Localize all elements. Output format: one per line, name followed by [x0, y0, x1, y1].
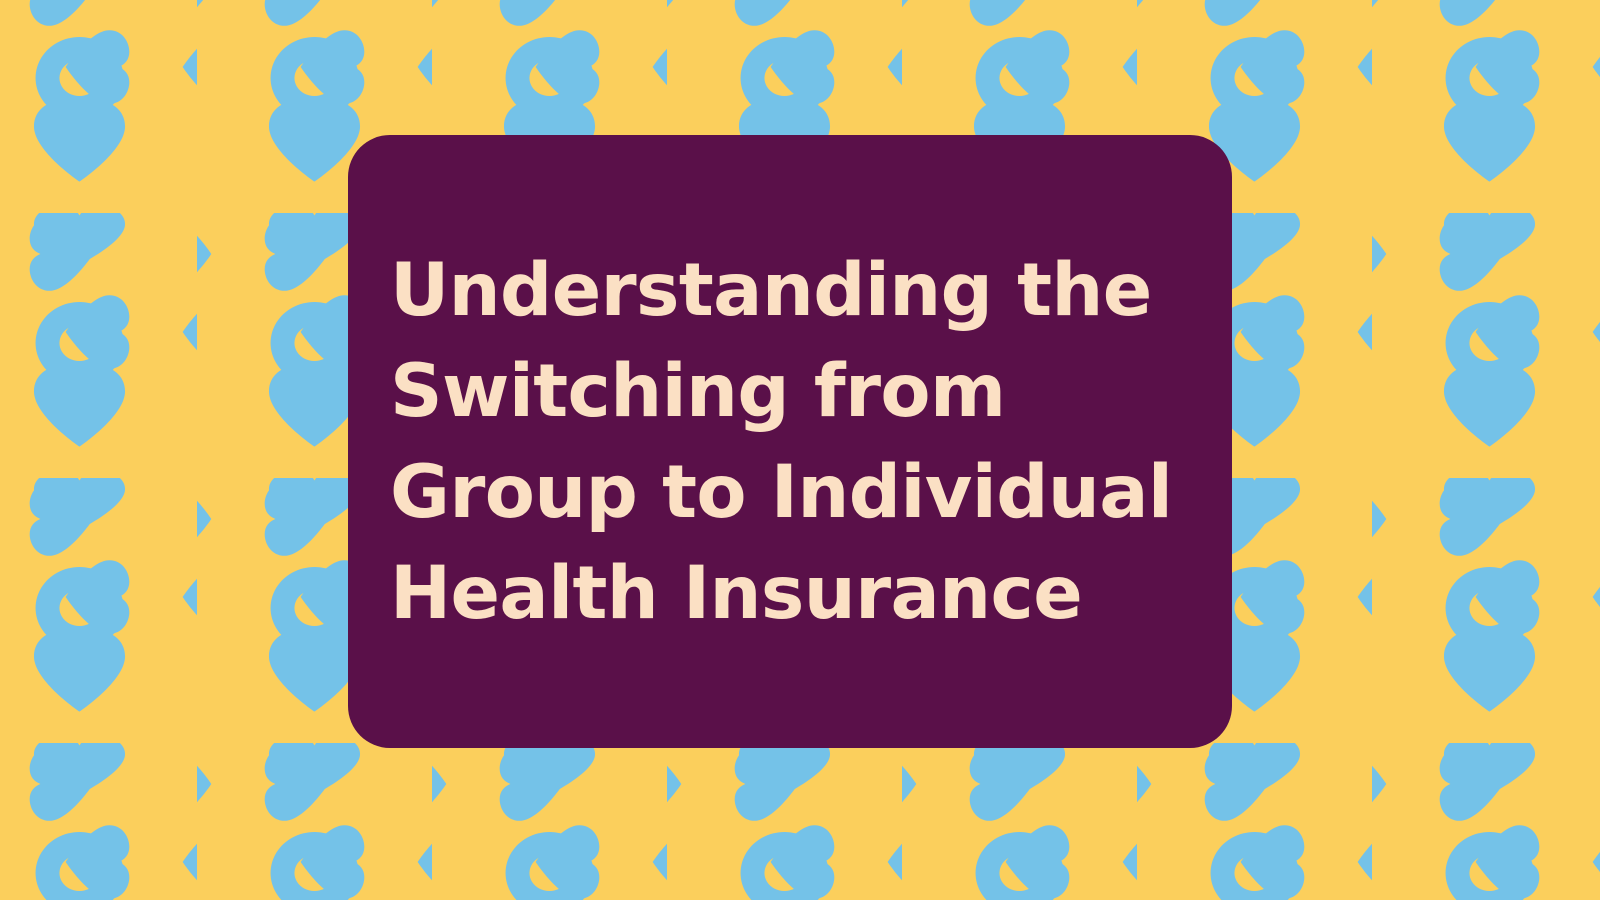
title-line-3: Group to Individual	[390, 442, 1186, 543]
title-line-2: Switching from	[390, 341, 1186, 442]
poster-canvas: Understanding the Switching from Group t…	[0, 0, 1600, 900]
title-line-4: Health Insurance	[390, 543, 1186, 644]
poster-title: Understanding the Switching from Group t…	[390, 240, 1186, 644]
title-line-1: Understanding the	[390, 240, 1186, 341]
title-card: Understanding the Switching from Group t…	[348, 135, 1232, 748]
